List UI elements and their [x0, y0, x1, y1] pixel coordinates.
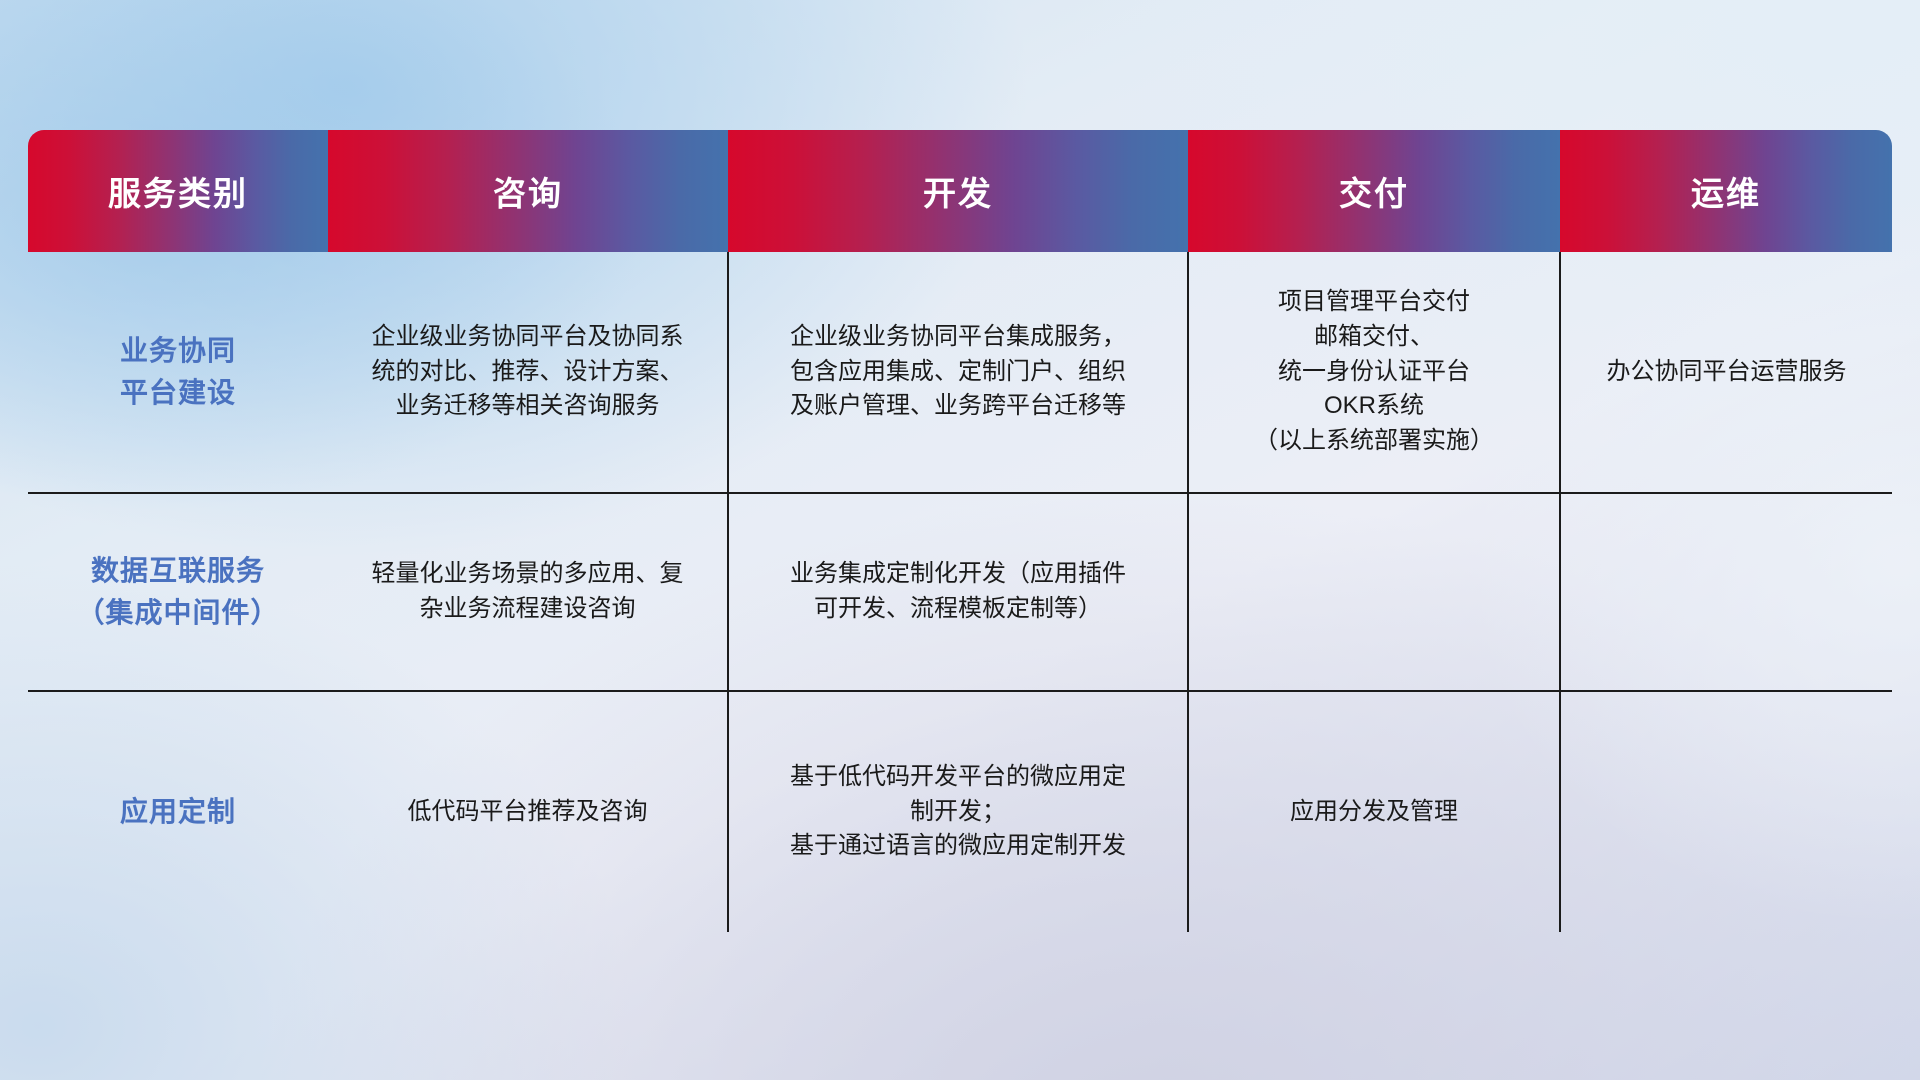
cell-text-line: OKR系统 — [1205, 389, 1543, 424]
row-category-label: 业务协同 平台建设 — [28, 252, 328, 493]
header-development: 开发 — [728, 130, 1188, 252]
cell-text-line: 企业级业务协同平台及协同系 — [344, 320, 711, 355]
cell-text-line: 可开发、流程模板定制等） — [745, 592, 1171, 627]
row-category-line: 数据互联服务 — [44, 550, 312, 592]
cell-text-line: 应用分发及管理 — [1205, 795, 1543, 830]
cell-text-line: 基于通过语言的微应用定制开发 — [745, 829, 1171, 864]
row-category-line: （集成中间件） — [44, 592, 312, 634]
row-category-line: 应用定制 — [44, 791, 312, 833]
cell-development: 业务集成定制化开发（应用插件 可开发、流程模板定制等） — [728, 493, 1188, 691]
table-row: 数据互联服务 （集成中间件） 轻量化业务场景的多应用、复 杂业务流程建设咨询 业… — [28, 493, 1892, 691]
row-category-label: 数据互联服务 （集成中间件） — [28, 493, 328, 691]
cell-text-line: 包含应用集成、定制门户、组织 — [745, 355, 1171, 390]
cell-text-line: 邮箱交付、 — [1205, 320, 1543, 355]
cell-text-line: （以上系统部署实施） — [1205, 424, 1543, 459]
cell-text-line: 轻量化业务场景的多应用、复 — [344, 557, 711, 592]
row-category-line: 平台建设 — [44, 372, 312, 414]
cell-text-line: 办公协同平台运营服务 — [1577, 355, 1876, 390]
cell-development: 企业级业务协同平台集成服务， 包含应用集成、定制门户、组织 及账户管理、业务跨平… — [728, 252, 1188, 493]
cell-text-line: 业务迁移等相关咨询服务 — [344, 389, 711, 424]
row-category-label: 应用定制 — [28, 691, 328, 932]
service-matrix-container: 服务类别 咨询 开发 交付 运维 业务协同 平台建设 企业级业务协同平台及协同系 — [28, 130, 1892, 960]
cell-delivery — [1188, 493, 1560, 691]
cell-text-line: 制开发； — [745, 795, 1171, 830]
table-header: 服务类别 咨询 开发 交付 运维 — [28, 130, 1892, 252]
cell-consulting: 低代码平台推荐及咨询 — [328, 691, 728, 932]
header-consulting: 咨询 — [328, 130, 728, 252]
header-service-category: 服务类别 — [28, 130, 328, 252]
cell-text-line: 企业级业务协同平台集成服务， — [745, 320, 1171, 355]
table-row: 业务协同 平台建设 企业级业务协同平台及协同系 统的对比、推荐、设计方案、 业务… — [28, 252, 1892, 493]
cell-text-line: 统的对比、推荐、设计方案、 — [344, 355, 711, 390]
header-delivery: 交付 — [1188, 130, 1560, 252]
header-row: 服务类别 咨询 开发 交付 运维 — [28, 130, 1892, 252]
cell-delivery: 项目管理平台交付 邮箱交付、 统一身份认证平台 OKR系统 （以上系统部署实施） — [1188, 252, 1560, 493]
cell-operations — [1560, 493, 1892, 691]
cell-text-line: 项目管理平台交付 — [1205, 285, 1543, 320]
row-category-line: 业务协同 — [44, 330, 312, 372]
cell-text-line: 低代码平台推荐及咨询 — [344, 795, 711, 830]
cell-development: 基于低代码开发平台的微应用定 制开发； 基于通过语言的微应用定制开发 — [728, 691, 1188, 932]
cell-consulting: 企业级业务协同平台及协同系 统的对比、推荐、设计方案、 业务迁移等相关咨询服务 — [328, 252, 728, 493]
header-operations: 运维 — [1560, 130, 1892, 252]
cell-delivery: 应用分发及管理 — [1188, 691, 1560, 932]
table-body: 业务协同 平台建设 企业级业务协同平台及协同系 统的对比、推荐、设计方案、 业务… — [28, 252, 1892, 932]
cell-text-line: 业务集成定制化开发（应用插件 — [745, 557, 1171, 592]
cell-text-line: 统一身份认证平台 — [1205, 355, 1543, 390]
service-matrix-table: 服务类别 咨询 开发 交付 运维 业务协同 平台建设 企业级业务协同平台及协同系 — [28, 130, 1892, 932]
page-background: 服务类别 咨询 开发 交付 运维 业务协同 平台建设 企业级业务协同平台及协同系 — [0, 0, 1920, 1080]
cell-consulting: 轻量化业务场景的多应用、复 杂业务流程建设咨询 — [328, 493, 728, 691]
cell-text-line: 及账户管理、业务跨平台迁移等 — [745, 389, 1171, 424]
cell-operations — [1560, 691, 1892, 932]
cell-text-line: 杂业务流程建设咨询 — [344, 592, 711, 627]
cell-text-line: 基于低代码开发平台的微应用定 — [745, 760, 1171, 795]
table-row: 应用定制 低代码平台推荐及咨询 基于低代码开发平台的微应用定 制开发； 基于通过… — [28, 691, 1892, 932]
cell-operations: 办公协同平台运营服务 — [1560, 252, 1892, 493]
